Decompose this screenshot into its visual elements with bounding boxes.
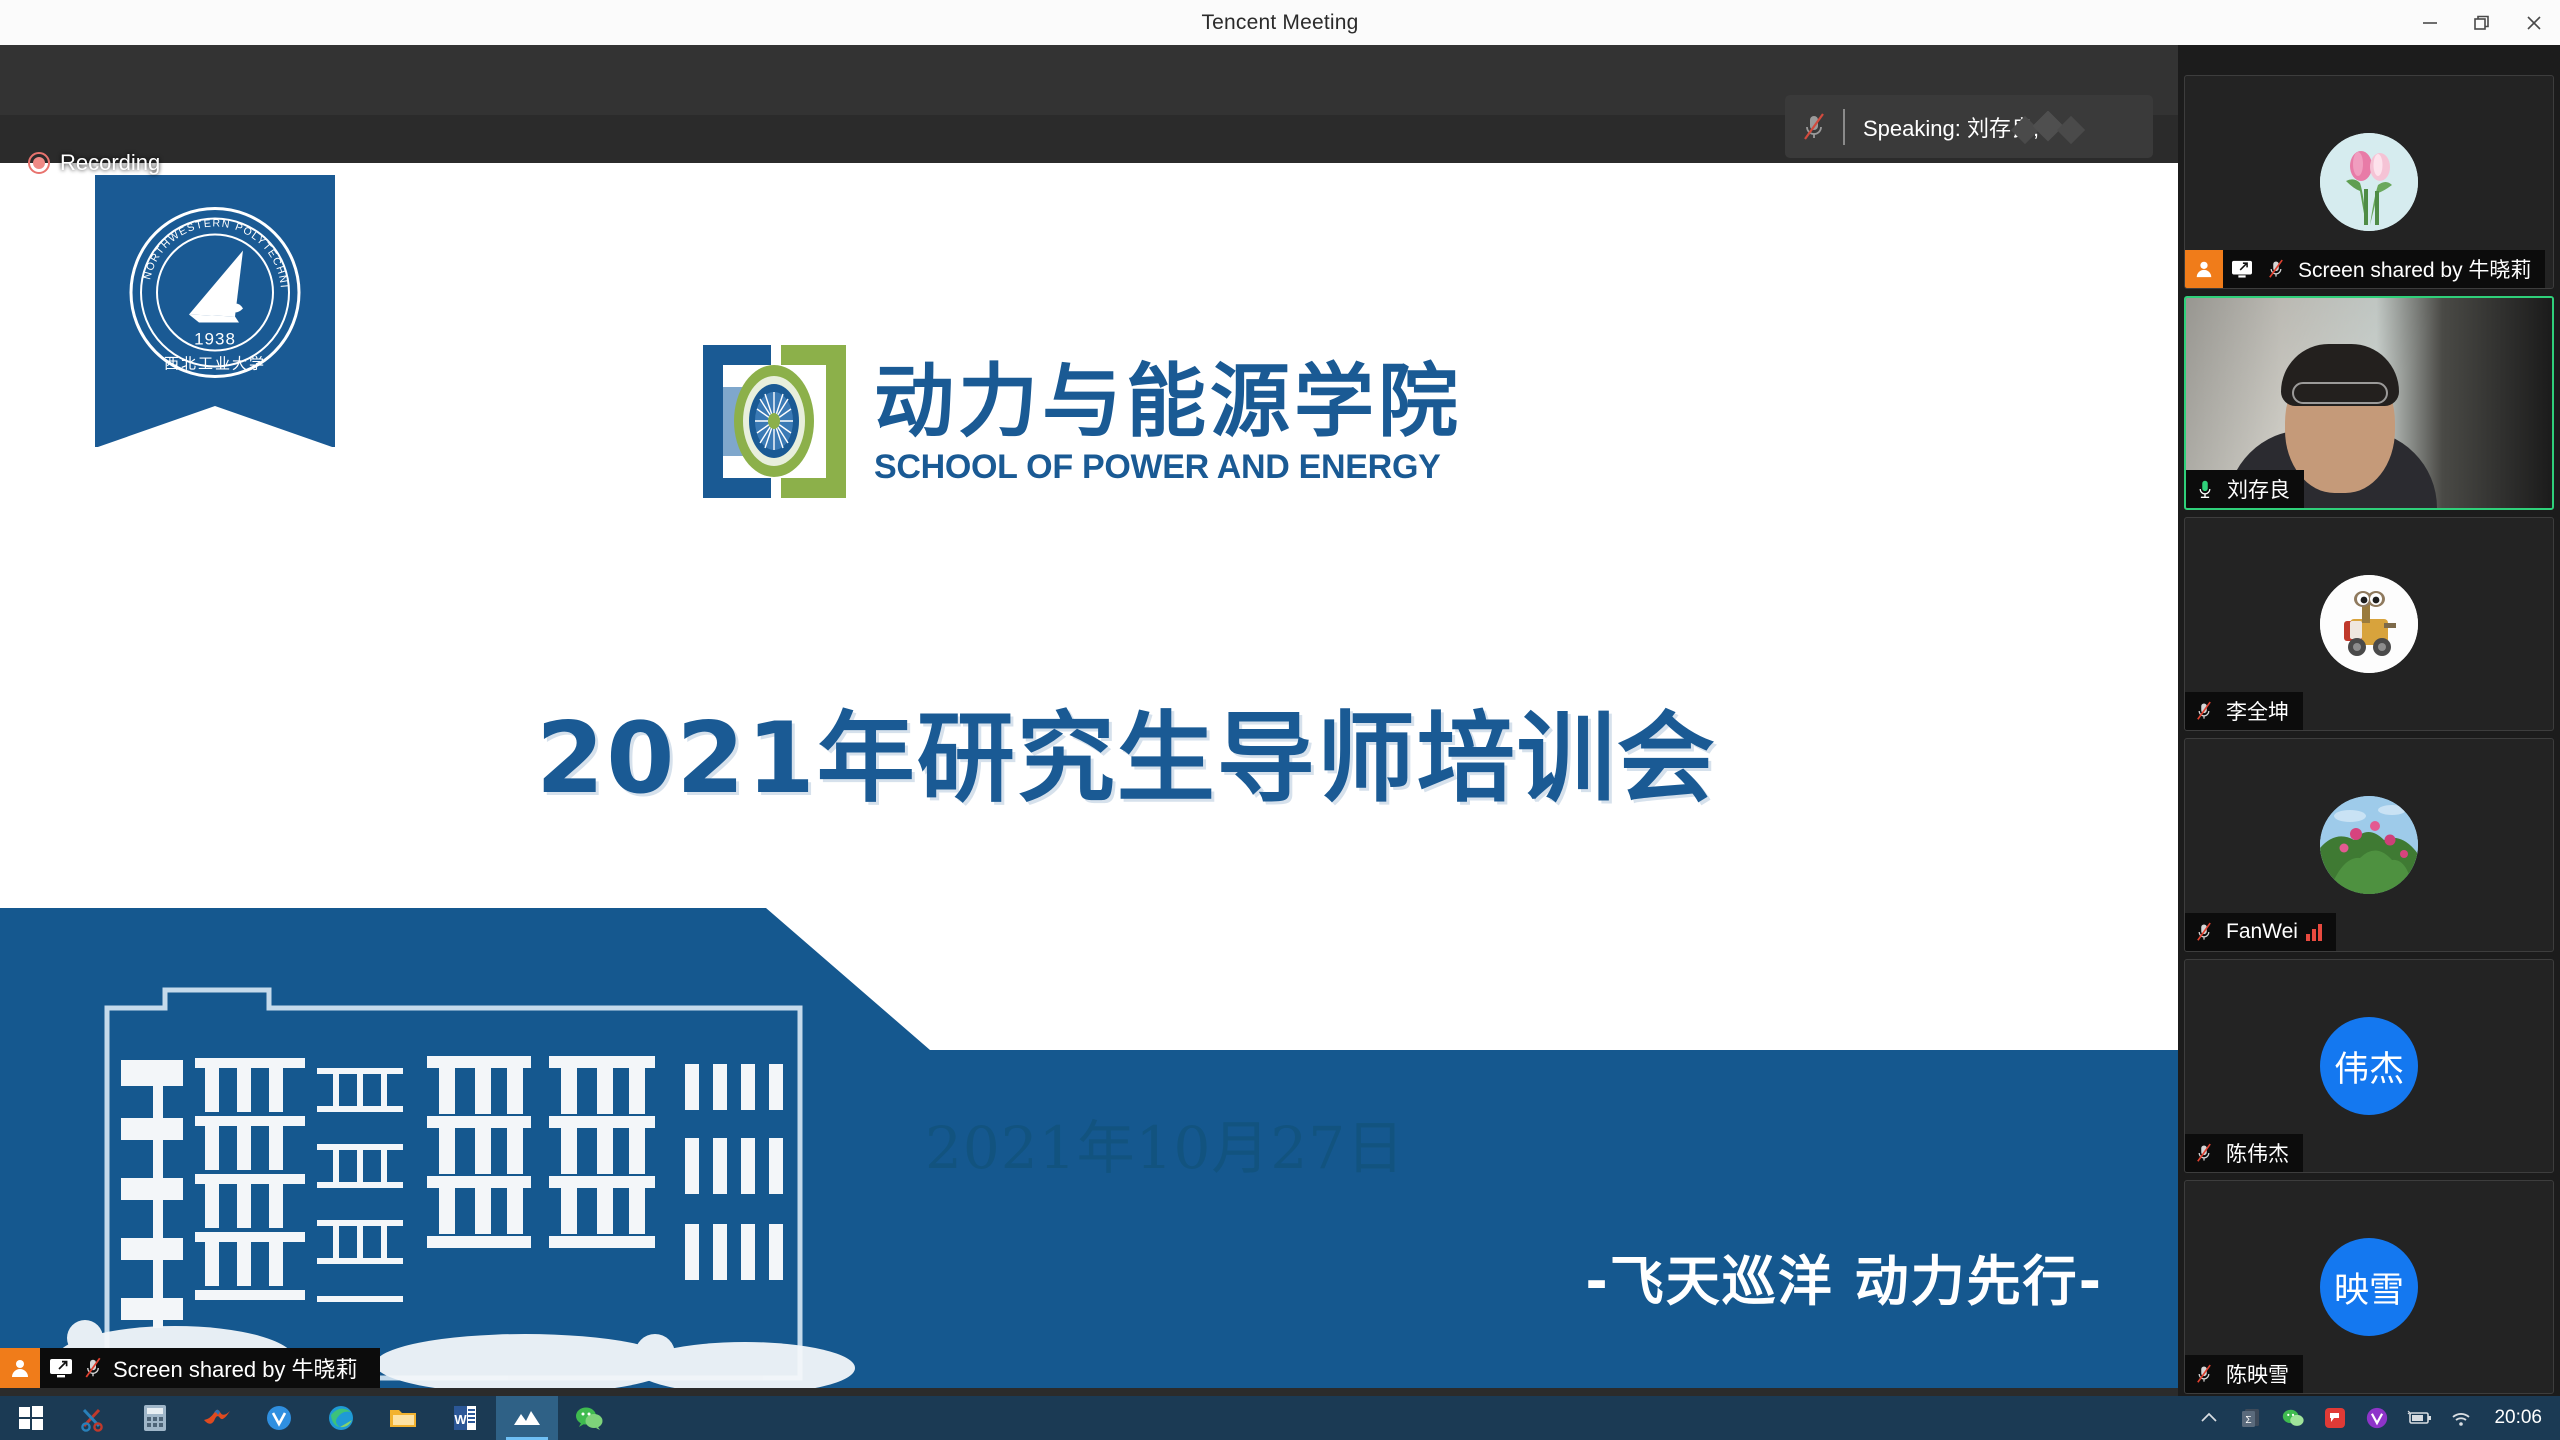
wechat-icon[interactable]	[558, 1396, 620, 1440]
mic-muted-icon	[2261, 258, 2291, 280]
screen-share-icon	[44, 1357, 78, 1379]
tencent-meeting-window: Tencent Meeting	[0, 0, 2560, 1440]
avatar	[2320, 133, 2418, 231]
svg-text:西北工业大学: 西北工业大学	[164, 355, 266, 373]
minimize-button[interactable]	[2404, 0, 2456, 45]
participant-tile[interactable]: 李全坤	[2184, 517, 2554, 731]
school-logo: 动力与能源学院 SCHOOL OF POWER AND ENERGY	[697, 339, 1462, 504]
divider	[1843, 109, 1845, 145]
avatar-initials: 伟杰	[2320, 1017, 2418, 1115]
slide-date: 2021年10月27日	[925, 1101, 1405, 1185]
qq-tray-icon[interactable]	[2322, 1405, 2348, 1431]
participant-name: Screen shared by 牛晓莉	[2298, 254, 2531, 284]
presentation-slide: NORTHWESTERN POLYTECHNICAL UNIVERSITY 19…	[0, 163, 2178, 1388]
participant-tile[interactable]: 映雪 陈映雪	[2184, 1180, 2554, 1394]
network-signal-icon	[2306, 923, 2322, 941]
battery-icon[interactable]	[2406, 1405, 2432, 1431]
snipping-tool-icon[interactable]	[62, 1396, 124, 1440]
watermark-diamonds-icon	[2011, 111, 2091, 150]
avatar	[2320, 575, 2418, 673]
participant-name: 李全坤	[2226, 696, 2289, 726]
start-button[interactable]	[0, 1396, 62, 1440]
slide-slogan: -飞天巡洋 动力先行-	[1585, 1237, 2103, 1316]
tencent-meeting-taskbar-button[interactable]	[496, 1396, 558, 1440]
speaking-indicator: Speaking: 刘存良;	[1785, 95, 2153, 158]
file-explorer-icon[interactable]	[372, 1396, 434, 1440]
building-illustration: 动力与能源学院	[55, 968, 855, 1388]
host-badge-icon	[2185, 250, 2223, 288]
svg-text:Σ: Σ	[2246, 1415, 2252, 1426]
power-energy-mark-icon	[697, 339, 852, 504]
matlab-icon[interactable]	[186, 1396, 248, 1440]
slide-main-title: 2021年研究生导师培训会	[536, 679, 1736, 821]
system-tray: Σ	[2196, 1405, 2560, 1431]
microsoft-edge-icon[interactable]	[310, 1396, 372, 1440]
screen-share-icon	[2227, 259, 2257, 279]
participant-tile[interactable]: Screen shared by 牛晓莉	[2184, 75, 2554, 289]
participant-name-bar: 陈映雪	[2185, 1355, 2303, 1393]
screen-share-label: Screen shared by 牛晓莉	[113, 1352, 358, 1384]
school-name-en: SCHOOL OF POWER AND ENERGY	[874, 448, 1462, 487]
mic-muted-icon	[2189, 921, 2219, 943]
svg-text:1938: 1938	[194, 330, 236, 349]
host-badge-icon	[0, 1348, 40, 1388]
windows-taskbar: W	[0, 1396, 2560, 1440]
participant-name-bar: 李全坤	[2185, 692, 2303, 730]
svg-text:NORTHWESTERN POLYTECHNICAL UNI: NORTHWESTERN POLYTECHNICAL UNIVERSITY	[127, 205, 290, 290]
recording-dot-icon	[28, 152, 50, 174]
mic-active-icon	[2190, 478, 2220, 500]
taskbar-clock[interactable]: 20:06	[2494, 1407, 2542, 1429]
participant-name-bar: 陈伟杰	[2185, 1134, 2303, 1172]
participant-name: 陈伟杰	[2226, 1138, 2289, 1168]
tencent-docs-tray-icon[interactable]: Σ	[2238, 1405, 2264, 1431]
school-wordmark: 动力与能源学院 SCHOOL OF POWER AND ENERGY	[874, 356, 1462, 487]
npu-seal-icon: NORTHWESTERN POLYTECHNICAL UNIVERSITY 19…	[127, 205, 303, 386]
school-name-cn: 动力与能源学院	[874, 362, 1462, 442]
mic-muted-icon	[2189, 1363, 2219, 1385]
participant-name-bar: Screen shared by 牛晓莉	[2185, 250, 2545, 288]
participant-tile[interactable]: 刘存良	[2184, 296, 2554, 510]
wechat-tray-icon[interactable]	[2280, 1405, 2306, 1431]
svg-text:W: W	[454, 1412, 467, 1427]
restore-button[interactable]	[2456, 0, 2508, 45]
tencent-meeting-shortcut-icon[interactable]	[248, 1396, 310, 1440]
avatar	[2320, 796, 2418, 894]
window-title: Tencent Meeting	[1201, 11, 1358, 35]
shared-screen-stage: Speaking: 刘存良; Recording	[0, 45, 2178, 1396]
wifi-icon[interactable]	[2448, 1405, 2474, 1431]
meeting-body: Speaking: 刘存良; Recording	[0, 45, 2560, 1396]
participant-name: 陈映雪	[2226, 1359, 2289, 1389]
participant-rail[interactable]: Screen shared by 牛晓莉	[2178, 45, 2560, 1396]
participant-name: 刘存良	[2227, 474, 2290, 504]
microsoft-word-icon[interactable]: W	[434, 1396, 496, 1440]
avatar-initials: 映雪	[2320, 1238, 2418, 1336]
mic-muted-icon	[2189, 700, 2219, 722]
participant-name: FanWei	[2226, 920, 2298, 944]
recording-indicator: Recording	[28, 150, 160, 176]
university-ribbon: NORTHWESTERN POLYTECHNICAL UNIVERSITY 19…	[95, 175, 335, 447]
show-hidden-icons-button[interactable]	[2196, 1405, 2222, 1431]
tencent-meeting-tray-icon[interactable]	[2364, 1405, 2390, 1431]
screen-share-banner: Screen shared by 牛晓莉	[0, 1348, 380, 1388]
participant-tile[interactable]: 伟杰 陈伟杰	[2184, 959, 2554, 1173]
mic-muted-icon	[78, 1356, 108, 1380]
participant-name-bar: 刘存良	[2186, 470, 2304, 508]
title-bar: Tencent Meeting	[0, 0, 2560, 45]
mic-muted-icon	[1785, 111, 1843, 143]
mic-muted-icon	[2189, 1142, 2219, 1164]
close-button[interactable]	[2508, 0, 2560, 45]
participant-tile[interactable]: FanWei	[2184, 738, 2554, 952]
recording-label: Recording	[60, 150, 160, 176]
participant-name-bar: FanWei	[2185, 913, 2336, 951]
window-controls	[2404, 0, 2560, 45]
calculator-icon[interactable]	[124, 1396, 186, 1440]
